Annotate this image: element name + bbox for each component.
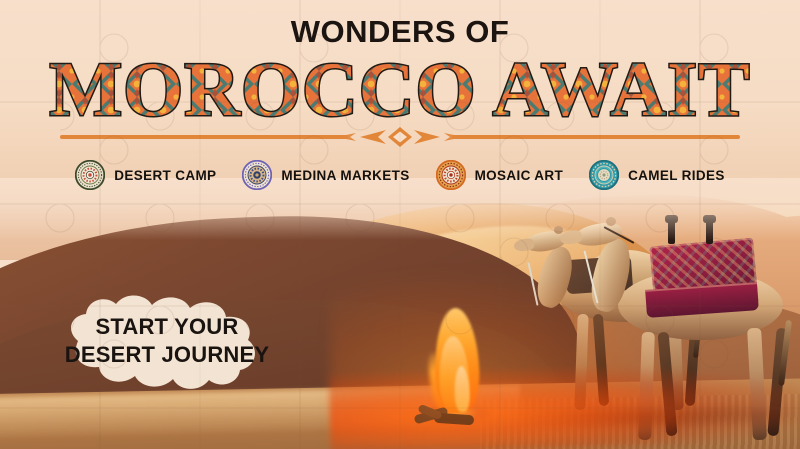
mandala-medallion-icon [75, 160, 105, 190]
divider-line-right [452, 135, 740, 139]
mandala-medallion-icon [436, 160, 466, 190]
firelight-ambient-glow [330, 270, 690, 449]
divider-line-left [60, 135, 348, 139]
cta-line-2: DESERT JOURNEY [65, 342, 270, 368]
feature-badge-desert-camp[interactable]: DESERT CAMP [75, 160, 216, 190]
page-title: MOROCCO AWAIT [0, 45, 800, 120]
mandala-medallion-icon [589, 160, 619, 190]
berber-diamond-ornament-icon [336, 127, 464, 147]
decorative-divider [60, 124, 740, 150]
camel-ear [554, 226, 563, 234]
cta-line-1: START YOUR [96, 314, 239, 340]
mandala-medallion-icon [242, 160, 272, 190]
poster-canvas: WONDERS OF MOROCCO AWAIT [0, 0, 800, 449]
feature-badge-row: DESERT CAMP MEDINA MARKETS MOS [0, 154, 800, 196]
start-desert-journey-button[interactable]: START YOUR DESERT JOURNEY [48, 283, 286, 399]
camel-ear [606, 217, 616, 226]
feature-label: MEDINA MARKETS [281, 168, 409, 183]
feature-badge-mosaic-art[interactable]: MOSAIC ART [436, 160, 564, 190]
saddle-post [706, 220, 713, 244]
cta-text-block: START YOUR DESERT JOURNEY [48, 283, 286, 399]
wordmark-text: MOROCCO AWAIT [49, 46, 750, 123]
feature-label: MOSAIC ART [475, 168, 564, 183]
feature-label: DESERT CAMP [114, 168, 216, 183]
feature-badge-medina-markets[interactable]: MEDINA MARKETS [242, 160, 409, 190]
feature-badge-camel-rides[interactable]: CAMEL RIDES [589, 160, 725, 190]
saddle-post [668, 220, 675, 244]
feature-label: CAMEL RIDES [628, 168, 725, 183]
wordmark-svg: MOROCCO AWAIT [20, 45, 780, 123]
divider-svg [60, 124, 740, 150]
